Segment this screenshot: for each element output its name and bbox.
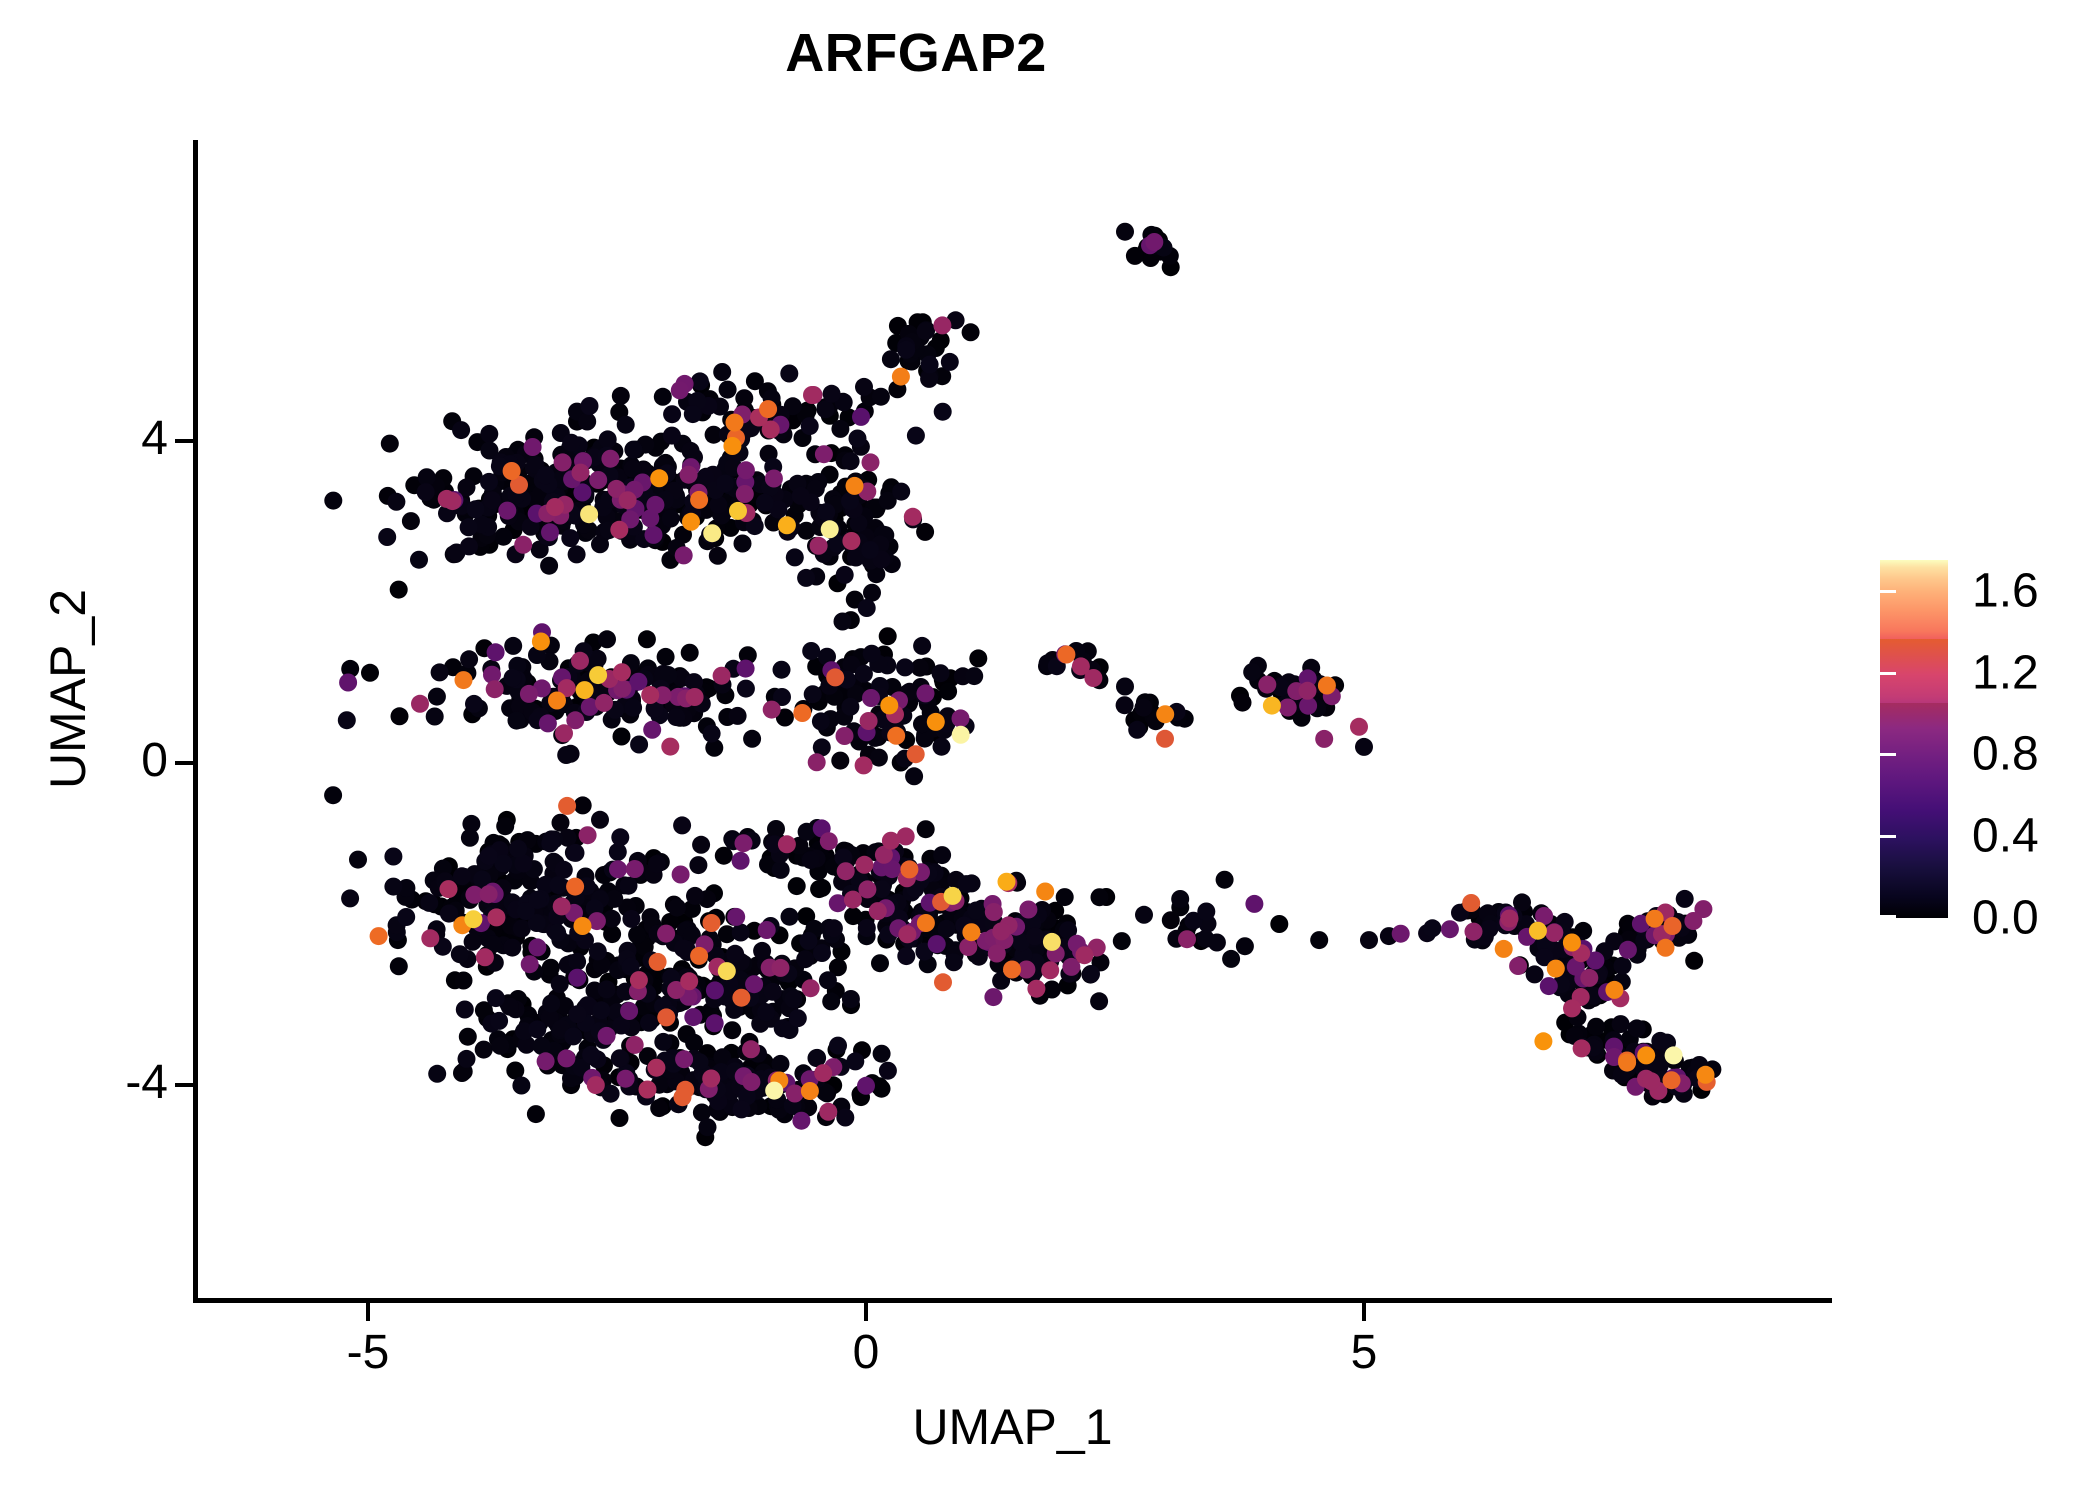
scatter-point	[871, 954, 889, 972]
scatter-point	[619, 491, 637, 509]
scatter-point	[1642, 1072, 1660, 1090]
scatter-point	[524, 438, 542, 456]
scatter-point	[657, 648, 675, 666]
y-axis-line	[193, 140, 198, 1303]
scatter-point	[819, 1103, 837, 1121]
scatter-point	[1128, 721, 1146, 739]
colorbar-tick-mark	[2064, 835, 2080, 838]
scatter-point	[855, 756, 873, 774]
scatter-point	[1618, 1054, 1636, 1072]
scatter-point	[428, 1065, 446, 1083]
scatter-point	[458, 1050, 476, 1068]
scatter-point	[803, 386, 821, 404]
scatter-point	[1135, 699, 1153, 717]
scatter-point	[917, 684, 935, 702]
scatter-point	[595, 694, 613, 712]
scatter-point	[1243, 663, 1261, 681]
scatter-point	[555, 724, 573, 742]
scatter-point	[879, 627, 897, 645]
scatter-point	[591, 811, 609, 829]
scatter-point	[834, 613, 852, 631]
scatter-point	[907, 427, 925, 445]
scatter-point	[1056, 888, 1074, 906]
scatter-point	[546, 498, 564, 516]
scatter-point	[662, 510, 680, 528]
scatter-point	[813, 944, 831, 962]
scatter-point	[842, 532, 860, 550]
scatter-point	[643, 721, 661, 739]
scatter-point	[486, 680, 504, 698]
colorbar-tick-label: 0.8	[1972, 727, 2039, 782]
scatter-point	[887, 727, 905, 745]
scatter-point	[814, 1064, 832, 1082]
scatter-point	[654, 1033, 672, 1051]
scatter-point	[1619, 941, 1637, 959]
scatter-point	[992, 922, 1010, 940]
scatter-point	[428, 688, 446, 706]
scatter-point	[465, 695, 483, 713]
colorbar-tick-mark	[1880, 835, 1896, 838]
scatter-point	[592, 1001, 610, 1019]
scatter-point	[941, 353, 959, 371]
scatter-point	[599, 430, 617, 448]
scatter-point	[860, 712, 878, 730]
scatter-point	[1628, 1019, 1646, 1037]
scatter-point	[792, 487, 810, 505]
scatter-point	[952, 709, 970, 727]
x-axis-line	[193, 1298, 1832, 1303]
scatter-point	[566, 878, 584, 896]
scatter-point	[823, 385, 841, 403]
scatter-point	[841, 492, 859, 510]
scatter-point	[557, 746, 575, 764]
colorbar-tick-label: 1.6	[1972, 563, 2039, 618]
colorbar-tick-mark	[1880, 753, 1896, 756]
scatter-point	[384, 848, 402, 866]
scatter-point	[508, 712, 526, 730]
scatter-point	[1072, 657, 1090, 675]
scatter-point	[549, 876, 567, 894]
scatter-point	[557, 1049, 575, 1067]
scatter-point	[836, 1109, 854, 1127]
scatter-point	[690, 947, 708, 965]
scatter-point	[921, 356, 939, 374]
scatter-point	[1082, 965, 1100, 983]
scatter-point	[460, 650, 478, 668]
scatter-point	[349, 851, 367, 869]
scatter-point	[626, 860, 644, 878]
scatter-point	[1646, 910, 1664, 928]
scatter-point	[817, 400, 835, 418]
scatter-point	[846, 477, 864, 495]
scatter-point	[402, 512, 420, 530]
scatter-point	[765, 1082, 783, 1100]
scatter-point	[773, 661, 791, 679]
scatter-point	[863, 645, 881, 663]
scatter-point	[453, 867, 471, 885]
scatter-point	[341, 889, 359, 907]
scatter-point	[1355, 738, 1373, 756]
scatter-point	[645, 526, 663, 544]
x-tick-label: 5	[1284, 1325, 1444, 1380]
scatter-point	[1318, 677, 1336, 695]
scatter-point	[1637, 1046, 1655, 1064]
scatter-point	[988, 945, 1006, 963]
scatter-point	[451, 945, 469, 963]
scatter-point	[540, 557, 558, 575]
scatter-point	[410, 551, 428, 569]
scatter-point	[873, 1045, 891, 1063]
scatter-point	[737, 680, 755, 698]
scatter-point	[869, 902, 887, 920]
scatter-point	[786, 1085, 804, 1103]
scatter-point	[1216, 871, 1234, 889]
x-tick-label: -5	[288, 1325, 448, 1380]
scatter-point	[831, 420, 849, 438]
scatter-point	[620, 1002, 638, 1020]
scatter-point	[735, 389, 753, 407]
scatter-point	[574, 917, 592, 935]
scatter-point	[1573, 1039, 1591, 1057]
scatter-point	[628, 926, 646, 944]
scatter-point	[917, 820, 935, 838]
scatter-point	[829, 1037, 847, 1055]
scatter-point	[610, 521, 628, 539]
scatter-point	[1684, 912, 1702, 930]
scatter-point	[729, 502, 747, 520]
scatter-point	[820, 832, 838, 850]
x-tick-mark	[1362, 1303, 1366, 1321]
scatter-point	[674, 1088, 692, 1106]
scatter-point	[1534, 1032, 1552, 1050]
scatter-point	[390, 957, 408, 975]
x-tick-mark	[864, 1303, 868, 1321]
scatter-point	[857, 1077, 875, 1095]
scatter-point	[503, 462, 521, 480]
scatter-point	[907, 745, 925, 763]
scatter-point	[772, 959, 790, 977]
scatter-point	[825, 919, 843, 937]
scatter-point	[528, 891, 546, 909]
scatter-point	[810, 537, 828, 555]
scatter-point	[872, 388, 890, 406]
scatter-point	[589, 471, 607, 489]
x-axis-title: UMAP_1	[193, 1398, 1832, 1456]
scatter-point	[815, 445, 833, 463]
scatter-point	[567, 844, 585, 862]
scatter-point	[1350, 718, 1368, 736]
scatter-point	[798, 823, 816, 841]
scatter-point	[1145, 233, 1163, 251]
scatter-point	[1664, 917, 1682, 935]
scatter-point	[726, 945, 744, 963]
scatter-point	[932, 664, 950, 682]
scatter-point	[928, 935, 946, 953]
y-axis-title: UMAP_2	[39, 499, 97, 879]
scatter-point	[487, 643, 505, 661]
scatter-point	[459, 1028, 477, 1046]
scatter-point	[913, 637, 931, 655]
scatter-point	[431, 663, 449, 681]
scatter-point	[496, 817, 514, 835]
scatter-point	[723, 437, 741, 455]
scatter-point	[829, 894, 847, 912]
scatter-point	[984, 988, 1002, 1006]
scatter-point	[580, 505, 598, 523]
scatter-point	[1360, 931, 1378, 949]
scatter-point	[555, 861, 573, 879]
y-tick-label: -4	[40, 1055, 168, 1110]
scatter-point	[381, 435, 399, 453]
scatter-point	[729, 707, 747, 725]
scatter-point	[858, 919, 876, 937]
scatter-point	[959, 938, 977, 956]
scatter-point	[480, 847, 498, 865]
scatter-point	[455, 671, 473, 689]
scatter-point	[667, 708, 685, 726]
scatter-point	[726, 414, 744, 432]
scatter-point	[611, 1049, 629, 1067]
scatter-point	[630, 971, 648, 989]
scatter-point	[601, 450, 619, 468]
scatter-point	[802, 642, 820, 660]
scatter-point	[681, 644, 699, 662]
x-tick-mark	[366, 1303, 370, 1321]
scatter-point	[821, 520, 839, 538]
scatter-point	[1614, 957, 1632, 975]
scatter-point	[1612, 1015, 1630, 1033]
scatter-point	[880, 696, 898, 714]
scatter-point	[1197, 930, 1215, 948]
scatter-point	[753, 942, 771, 960]
scatter-point	[569, 1005, 587, 1023]
scatter-point	[882, 350, 900, 368]
scatter-point	[801, 417, 819, 435]
scatter-point	[703, 524, 721, 542]
scatter-point	[475, 1041, 493, 1059]
scatter-point	[933, 316, 951, 334]
scatter-point	[723, 1021, 741, 1039]
scatter-point	[1547, 960, 1565, 978]
scatter-point	[745, 975, 763, 993]
colorbar-tick-label: 0.0	[1972, 891, 2039, 946]
scatter-point	[514, 536, 532, 554]
scatter-point	[467, 500, 485, 518]
scatter-point	[737, 660, 755, 678]
scatter-point	[1156, 730, 1174, 748]
scatter-point	[561, 529, 579, 547]
scatter-point	[1116, 223, 1134, 241]
scatter-point	[553, 897, 571, 915]
scatter-point	[638, 630, 656, 648]
scatter-point	[1116, 678, 1134, 696]
scatter-point	[703, 725, 721, 743]
colorbar-tick-mark	[2064, 753, 2080, 756]
scatter-point	[397, 908, 415, 926]
scatter-point	[361, 664, 379, 682]
scatter-point	[841, 698, 859, 716]
scatter-point	[800, 932, 818, 950]
scatter-point	[455, 972, 473, 990]
scatter-point	[742, 1073, 760, 1091]
scatter-point	[528, 1020, 546, 1038]
scatter-point	[1563, 999, 1581, 1017]
scatter-point	[952, 726, 970, 744]
scatter-point	[706, 981, 724, 999]
scatter-point	[609, 860, 627, 878]
scatter-point	[598, 630, 616, 648]
scatter-point	[692, 836, 710, 854]
scatter-point	[630, 736, 648, 754]
scatter-point	[456, 1001, 474, 1019]
scatter-point	[778, 835, 796, 853]
scatter-point	[1245, 895, 1263, 913]
scatter-point	[967, 902, 985, 920]
scatter-point	[927, 713, 945, 731]
scatter-point	[846, 1052, 864, 1070]
scatter-point	[861, 541, 879, 559]
scatter-point	[743, 730, 761, 748]
scatter-point	[758, 921, 776, 939]
scatter-point	[1315, 730, 1333, 748]
scatter-point	[603, 925, 621, 943]
scatter-point	[504, 637, 522, 655]
colorbar-gradient	[1880, 560, 1948, 918]
scatter-point	[490, 1012, 508, 1030]
colorbar-tick-mark	[1880, 915, 1896, 918]
scatter-point	[842, 452, 860, 470]
scatter-point	[793, 704, 811, 722]
scatter-point	[785, 990, 803, 1008]
scatter-point	[801, 1082, 819, 1100]
scatter-point	[613, 663, 631, 681]
scatter-point	[589, 942, 607, 960]
scatter-point	[1540, 977, 1558, 995]
scatter-point	[639, 1081, 657, 1099]
scatter-point	[648, 855, 666, 873]
scatter-point	[1580, 969, 1598, 987]
scatter-point	[622, 910, 640, 928]
scatter-point	[554, 453, 572, 471]
scatter-point	[617, 416, 635, 434]
scatter-point	[675, 1050, 693, 1068]
scatter-point	[767, 820, 785, 838]
scatter-point	[654, 388, 672, 406]
colorbar-tick-mark	[2064, 590, 2080, 593]
scatter-point	[673, 816, 691, 834]
scatter-point	[1126, 247, 1144, 265]
scatter-point	[646, 496, 664, 514]
scatter-point	[589, 666, 607, 684]
scatter-point	[844, 891, 862, 909]
scatter-point	[684, 405, 702, 423]
scatter-point	[613, 728, 631, 746]
scatter-point	[939, 682, 957, 700]
scatter-point	[1563, 934, 1581, 952]
scatter-point	[1043, 933, 1061, 951]
scatter-point	[487, 989, 505, 1007]
scatter-point	[690, 491, 708, 509]
scatter-point	[837, 862, 855, 880]
scatter-point	[844, 907, 862, 925]
scatter-point	[896, 658, 914, 676]
scatter-point	[742, 1040, 760, 1058]
scatter-point	[624, 441, 642, 459]
scatter-point	[699, 1118, 717, 1136]
scatter-point	[1501, 910, 1519, 928]
scatter-point	[962, 923, 980, 941]
scatter-point	[338, 711, 356, 729]
scatter-point	[879, 1062, 897, 1080]
scatter-point	[370, 927, 388, 945]
scatter-point	[733, 1100, 751, 1118]
scatter-point	[1222, 950, 1240, 968]
scatter-point	[772, 861, 790, 879]
scatter-point	[542, 959, 560, 977]
scatter-point	[672, 866, 690, 884]
scatter-point	[792, 1112, 810, 1130]
scatter-point	[1663, 1071, 1681, 1089]
scatter-point	[718, 962, 736, 980]
scatter-point	[819, 971, 837, 989]
scatter-point	[1236, 937, 1254, 955]
scatter-point	[598, 1027, 616, 1045]
scatter-point	[1392, 925, 1410, 943]
scatter-point	[339, 674, 357, 692]
scatter-point	[957, 875, 975, 893]
scatter-point	[1526, 965, 1544, 983]
scatter-point	[962, 323, 980, 341]
scatter-point	[464, 910, 482, 928]
scatter-point	[1057, 646, 1075, 664]
scatter-point	[1676, 890, 1694, 908]
scatter-point	[765, 470, 783, 488]
scatter-point	[1529, 922, 1547, 940]
scatter-point	[685, 1034, 703, 1052]
scatter-point	[1299, 682, 1317, 700]
scatter-point	[969, 649, 987, 667]
scatter-point	[684, 1008, 702, 1026]
scatter-point	[870, 749, 888, 767]
scatter-point	[826, 668, 844, 686]
scatter-point	[527, 1105, 545, 1123]
scatter-point	[836, 566, 854, 584]
scatter-point	[391, 707, 409, 725]
scatter-point	[831, 752, 849, 770]
scatter-point	[483, 491, 501, 509]
scatter-point	[1135, 906, 1153, 924]
scatter-point	[727, 908, 745, 926]
scatter-point	[528, 938, 546, 956]
scatter-point	[763, 701, 781, 719]
scatter-point	[378, 528, 396, 546]
scatter-point	[579, 826, 597, 844]
scatter-point	[1075, 946, 1093, 964]
scatter-point	[817, 503, 835, 521]
scatter-point	[945, 953, 963, 971]
scatter-point	[548, 692, 566, 710]
scatter-point	[421, 929, 439, 947]
scatter-point	[804, 685, 822, 703]
scatter-point	[852, 408, 870, 426]
scatter-point	[965, 667, 983, 685]
scatter-point	[898, 925, 916, 943]
scatter-point	[411, 695, 429, 713]
scatter-point	[842, 990, 860, 1008]
scatter-point	[1036, 883, 1054, 901]
scatter-point	[537, 466, 555, 484]
scatter-point	[680, 972, 698, 990]
